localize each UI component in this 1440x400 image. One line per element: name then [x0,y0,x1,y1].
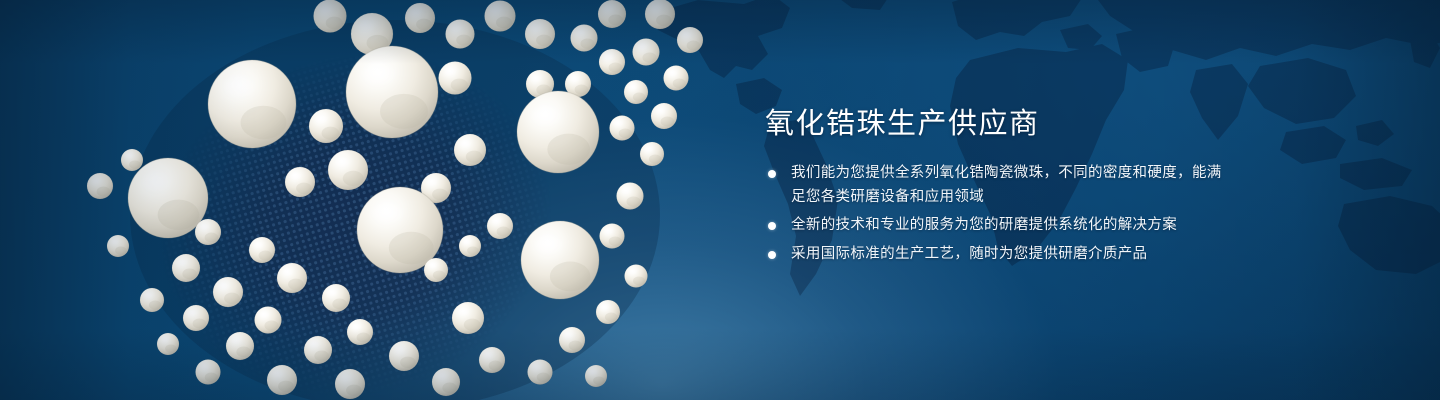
bullet-dot-icon [768,170,776,178]
feature-text: 我们能为您提供全系列氧化锆陶瓷微珠，不同的密度和硬度，能满足您各类研磨设备和应用… [791,165,1222,205]
feature-list-item: 全新的技术和专业的服务为您的研磨提供系统化的解决方案 [765,214,1235,238]
feature-list-item: 我们能为您提供全系列氧化锆陶瓷微珠，不同的密度和硬度，能满足您各类研磨设备和应用… [765,162,1235,209]
banner-headline: 氧化锆珠生产供应商 [765,104,1235,144]
bullet-dot-icon [768,222,776,230]
feature-list-item: 采用国际标准的生产工艺，随时为您提供研磨介质产品 [765,243,1235,267]
feature-list: 我们能为您提供全系列氧化锆陶瓷微珠，不同的密度和硬度，能满足您各类研磨设备和应用… [765,162,1235,266]
feature-text: 采用国际标准的生产工艺，随时为您提供研磨介质产品 [791,246,1147,262]
bullet-dot-icon [768,251,776,259]
banner-copy: 氧化锆珠生产供应商 我们能为您提供全系列氧化锆陶瓷微珠，不同的密度和硬度，能满足… [765,104,1235,271]
promo-banner: 氧化锆珠生产供应商 我们能为您提供全系列氧化锆陶瓷微珠，不同的密度和硬度，能满足… [0,0,1440,400]
feature-text: 全新的技术和专业的服务为您的研磨提供系统化的解决方案 [791,217,1177,233]
